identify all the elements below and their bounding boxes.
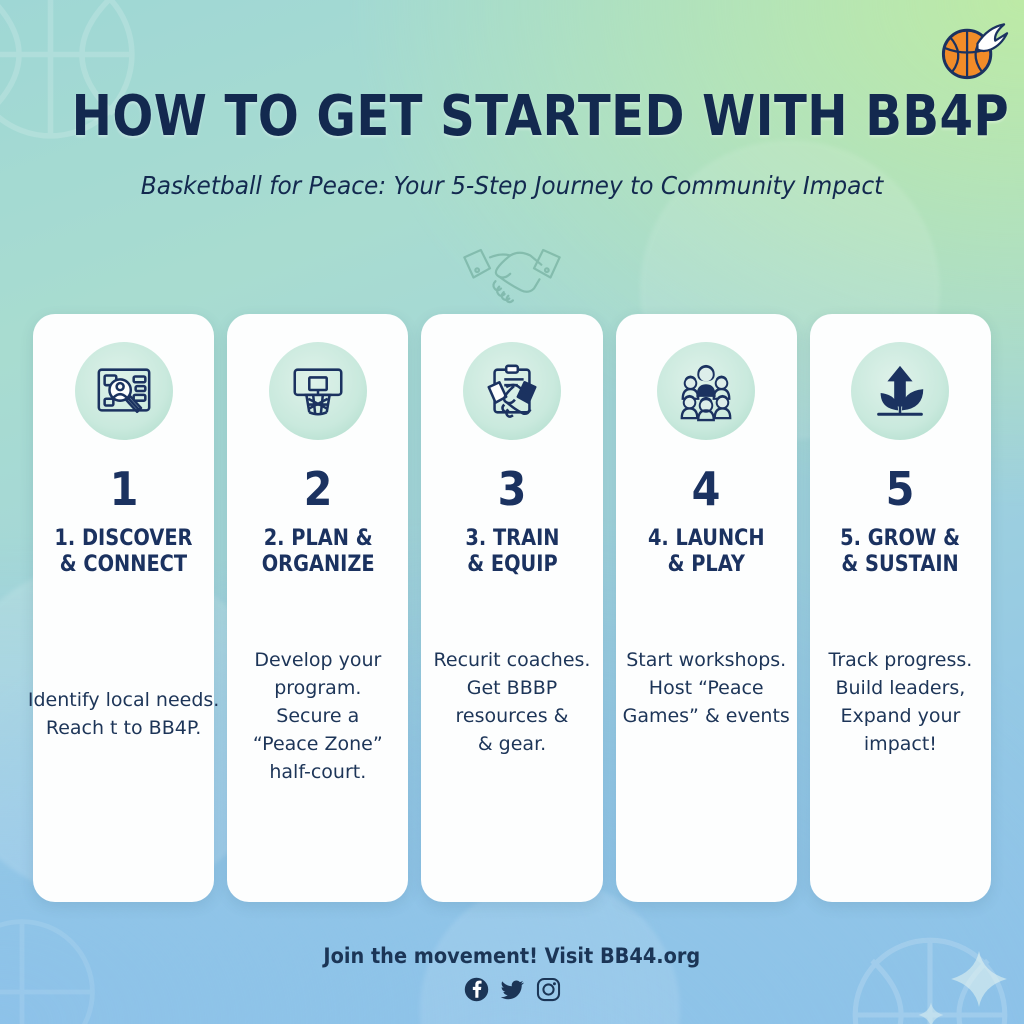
step-2-title: 2. PLAN & ORGANIZE bbox=[261, 526, 374, 578]
step-card-3[interactable]: 3 3. TRAIN & EQUIP Recurit coaches. Get … bbox=[421, 314, 602, 902]
step-2-number: 2 bbox=[303, 466, 332, 512]
social-links bbox=[0, 977, 1024, 1002]
sparkle-icon-small bbox=[918, 1002, 944, 1024]
step-4-title: 4. LAUNCH & PLAY bbox=[648, 526, 765, 578]
step-1-icon-circle bbox=[75, 342, 173, 440]
clipboard-handshake-icon bbox=[481, 360, 543, 422]
step-card-4[interactable]: 4 4. LAUNCH & PLAY Start workshops. Host… bbox=[616, 314, 797, 902]
profile-search-icon bbox=[93, 360, 155, 422]
basketball-hoop-icon bbox=[287, 360, 349, 422]
facebook-icon[interactable] bbox=[464, 977, 489, 1002]
step-3-title: 3. TRAIN & EQUIP bbox=[465, 526, 559, 578]
step-2-icon-circle bbox=[269, 342, 367, 440]
bb4p-logo bbox=[936, 14, 1010, 88]
footer-call-to-action: Join the movement! Visit BB44.org bbox=[324, 944, 701, 968]
instagram-icon[interactable] bbox=[536, 977, 561, 1002]
twitter-icon[interactable] bbox=[500, 977, 525, 1002]
plant-growth-arrow-icon bbox=[869, 360, 931, 422]
step-card-5[interactable]: 5 5. GROW & & SUSTAIN Track progress. Bu… bbox=[810, 314, 991, 902]
step-4-description: Start workshops. Host “Peace Games” & ev… bbox=[608, 646, 805, 730]
step-4-number: 4 bbox=[692, 466, 721, 512]
step-1-description: Identify local needs. Reach t to BB4P. bbox=[25, 686, 222, 742]
step-1-number: 1 bbox=[109, 466, 138, 512]
page-title: HOW TO GET STARTED WITH BB4P bbox=[72, 84, 953, 149]
step-3-icon-circle bbox=[463, 342, 561, 440]
step-4-icon-circle bbox=[657, 342, 755, 440]
step-1-title: 1. DISCOVER & CONNECT bbox=[55, 526, 193, 578]
step-5-description: Track progress. Build leaders, Expand yo… bbox=[802, 646, 999, 758]
step-5-icon-circle bbox=[851, 342, 949, 440]
step-5-number: 5 bbox=[886, 466, 915, 512]
steps-container: 1 1. DISCOVER & CONNECT Identify local n… bbox=[33, 314, 991, 902]
header: HOW TO GET STARTED WITH BB4P Basketball … bbox=[0, 84, 1024, 200]
handshake-icon bbox=[457, 236, 567, 308]
step-3-number: 3 bbox=[498, 466, 527, 512]
step-card-1[interactable]: 1 1. DISCOVER & CONNECT Identify local n… bbox=[33, 314, 214, 902]
step-card-2[interactable]: 2 2. PLAN & ORGANIZE Develop your progra… bbox=[227, 314, 408, 902]
footer: Join the movement! Visit BB44.org bbox=[0, 944, 1024, 1002]
page-subtitle: Basketball for Peace: Your 5-Step Journe… bbox=[36, 171, 988, 200]
basketball-dove-icon bbox=[936, 14, 1010, 88]
step-5-title: 5. GROW & & SUSTAIN bbox=[841, 526, 961, 578]
people-group-icon bbox=[675, 360, 737, 422]
step-2-description: Develop your program. Secure a “Peace Zo… bbox=[219, 646, 416, 787]
step-3-description: Recurit coaches. Get BBBP resources & & … bbox=[413, 646, 610, 758]
